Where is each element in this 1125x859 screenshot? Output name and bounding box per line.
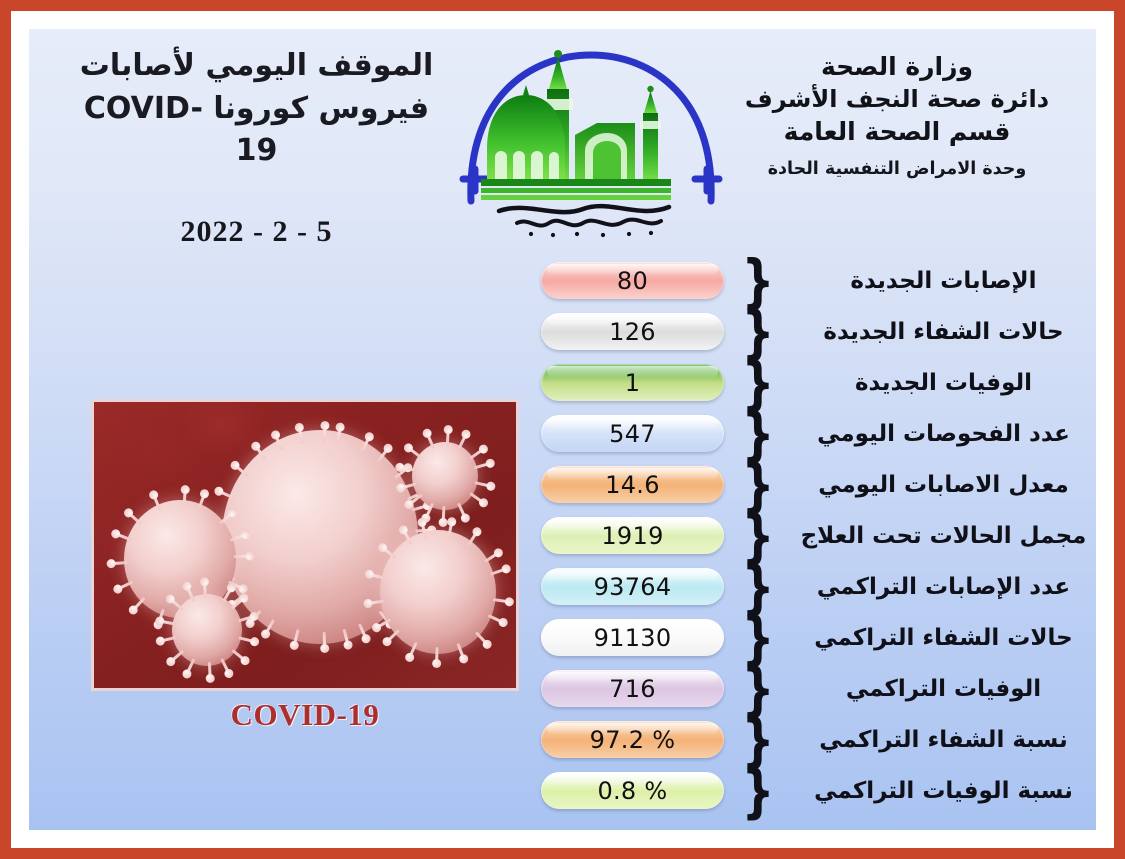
spike-protein-icon — [202, 584, 208, 598]
stat-value-pill: 1919 — [541, 517, 724, 554]
stat-value-pill: 91130 — [541, 619, 724, 656]
stat-value-pill: 0.8 % — [541, 772, 724, 809]
title-line-2: فيروس كورونا COVID-19 — [69, 88, 444, 173]
stat-label: الوفيات التراكمي — [780, 676, 1096, 702]
stat-value: 14.6 — [605, 471, 660, 499]
stat-value: 1 — [625, 369, 641, 397]
title-line-1: الموقف اليومي لأصابات — [69, 45, 444, 88]
virion-bottom-right — [380, 530, 496, 654]
stat-value: 97.2 % — [590, 726, 676, 754]
virion-bottom-left — [172, 594, 242, 666]
stat-label: عدد الإصابات التراكمي — [780, 574, 1096, 600]
spike-protein-icon — [206, 662, 212, 676]
stat-label: مجمل الحالات تحت العلاج — [780, 523, 1096, 549]
org-line-ministry: وزارة الصحة — [732, 51, 1062, 84]
stat-value-pill: 93764 — [541, 568, 724, 605]
coronavirus-image — [91, 399, 519, 691]
poster-inner-border: الموقف اليومي لأصابات فيروس كورونا COVID… — [11, 11, 1114, 848]
stat-value-pill: 716 — [541, 670, 724, 707]
spike-protein-icon — [434, 647, 439, 666]
stat-row: 716}الوفيات التراكمي — [541, 663, 1096, 714]
stat-row: 97.2 %}نسبة الشفاء التراكمي — [541, 714, 1096, 765]
stat-label: نسبة الوفيات التراكمي — [780, 778, 1096, 804]
stat-value: 126 — [609, 318, 656, 346]
stat-row: 1}الوفيات الجديدة — [541, 357, 1096, 408]
stat-value: 80 — [617, 267, 648, 295]
spike-protein-icon — [474, 631, 490, 648]
stat-row: 547}عدد الفحوصات اليومي — [541, 408, 1096, 459]
stat-label: حالات الشفاء الجديدة — [780, 319, 1096, 345]
stat-value-pill: 80 — [541, 262, 724, 299]
stat-row: 91130}حالات الشفاء التراكمي — [541, 612, 1096, 663]
stat-value-pill: 1 — [541, 364, 724, 401]
stat-label: معدل الاصابات اليومي — [780, 472, 1096, 498]
stat-row: 14.6}معدل الاصابات اليومي — [541, 459, 1096, 510]
virion-top-right — [412, 442, 478, 510]
stat-value: 0.8 % — [597, 777, 667, 805]
stat-row: 80}الإصابات الجديدة — [541, 255, 1096, 306]
spike-protein-icon — [321, 632, 327, 660]
logo-calligraphy — [499, 206, 669, 237]
stat-value: 716 — [609, 675, 656, 703]
poster-canvas: الموقف اليومي لأصابات فيروس كورونا COVID… — [29, 29, 1096, 830]
stat-row: 126}حالات الشفاء الجديدة — [541, 306, 1096, 357]
stat-label: عدد الفحوصات اليومي — [780, 421, 1096, 447]
stat-label: الوفيات الجديدة — [780, 370, 1096, 396]
stat-label: الإصابات الجديدة — [780, 268, 1096, 294]
org-line-directorate: دائرة صحة النجف الأشرف — [732, 84, 1062, 116]
stat-value: 547 — [609, 420, 656, 448]
stat-row: 1919}مجمل الحالات تحت العلاج — [541, 510, 1096, 561]
poster-border: الموقف اليومي لأصابات فيروس كورونا COVID… — [0, 0, 1125, 859]
spike-protein-icon — [321, 414, 327, 442]
spike-protein-icon — [444, 433, 450, 447]
stat-value: 1919 — [601, 522, 663, 550]
stat-value: 93764 — [594, 573, 672, 601]
stat-value-pill: 126 — [541, 313, 724, 350]
stat-label: حالات الشفاء التراكمي — [780, 625, 1096, 651]
stat-value-pill: 97.2 % — [541, 721, 724, 758]
stat-row: 93764}عدد الإصابات التراكمي — [541, 561, 1096, 612]
report-date: 2022 - 2 - 5 — [69, 215, 444, 249]
stat-value-pill: 14.6 — [541, 466, 724, 503]
stat-value: 91130 — [594, 624, 672, 652]
stat-value-pill: 547 — [541, 415, 724, 452]
stat-row: 0.8 %}نسبة الوفيات التراكمي — [541, 765, 1096, 816]
spike-protein-icon — [229, 598, 243, 611]
najaf-governorate-logo — [457, 41, 725, 246]
spike-protein-icon — [440, 506, 446, 519]
org-line-unit: وحدة الامراض التنفسية الحادة — [732, 158, 1062, 181]
organization-header: وزارة الصحة دائرة صحة النجف الأشرف قسم ا… — [732, 51, 1062, 180]
stat-label: نسبة الشفاء التراكمي — [780, 727, 1096, 753]
covid-caption: COVID-19 — [91, 697, 519, 733]
statistics-list: 80}الإصابات الجديدة126}حالات الشفاء الجد… — [541, 255, 1096, 816]
poster-title: الموقف اليومي لأصابات فيروس كورونا COVID… — [69, 45, 444, 249]
org-line-department: قسم الصحة العامة — [732, 115, 1062, 149]
spike-protein-icon — [181, 488, 187, 507]
spike-protein-icon — [233, 553, 252, 559]
